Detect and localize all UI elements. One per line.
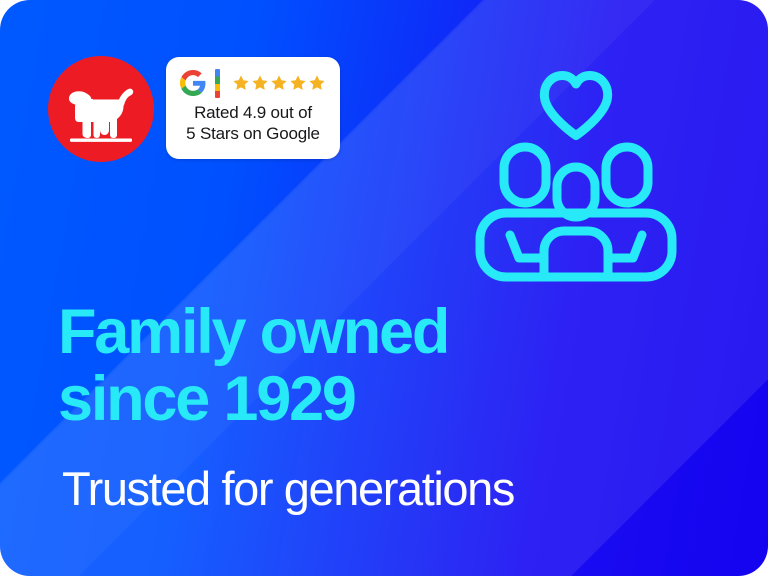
- headline-line-1: Family owned: [58, 299, 718, 366]
- promo-card: Rated 4.9 out of 5 Stars on Google Famil…: [0, 0, 768, 576]
- subtitle: Trusted for generations: [62, 461, 514, 517]
- star-icon: [232, 74, 250, 92]
- dog-silhouette-icon: [48, 56, 154, 162]
- google-rating-badge[interactable]: Rated 4.9 out of 5 Stars on Google: [166, 57, 340, 159]
- child-body: [544, 231, 608, 277]
- adult-head-right: [606, 147, 648, 203]
- adult-head-left: [504, 147, 546, 203]
- headline-line-2: since 1929: [58, 366, 718, 433]
- google-color-divider: [215, 69, 220, 98]
- headline: Family owned since 1929: [58, 299, 718, 433]
- family-bodies: [480, 213, 672, 277]
- google-g-icon: [180, 70, 206, 96]
- badge-rating-text: Rated 4.9 out of 5 Stars on Google: [180, 102, 326, 144]
- badge-text-line-1: Rated 4.9 out of: [186, 102, 320, 123]
- star-rating: [232, 74, 326, 92]
- star-icon: [289, 74, 307, 92]
- family-heart-icon: [472, 55, 680, 287]
- star-icon: [251, 74, 269, 92]
- star-icon: [270, 74, 288, 92]
- dog-logo[interactable]: [48, 56, 154, 162]
- family-heart-illustration: [472, 55, 680, 287]
- arm-right: [612, 235, 642, 258]
- heart-shape: [544, 76, 607, 136]
- badge-text-line-2: 5 Stars on Google: [186, 123, 320, 144]
- arm-left: [510, 235, 540, 258]
- badge-rating-row: [180, 68, 326, 98]
- star-icon: [308, 74, 326, 92]
